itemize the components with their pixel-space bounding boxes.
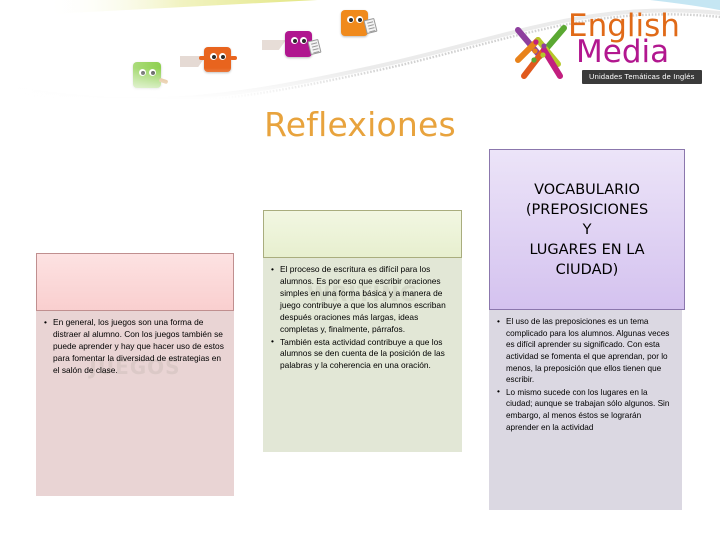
mascot-eye	[300, 37, 307, 44]
slide-page: English Media Unidades Temáticas de Ingl…	[0, 0, 720, 540]
heading-line: (PREPOSICIONES	[490, 200, 684, 220]
english-media-logo: English Media Unidades Temáticas de Ingl…	[514, 6, 706, 98]
games-column-body: JUEGOS En general, los juegos son una fo…	[36, 311, 234, 496]
list-item: Lo mismo sucede con los lugares en la ci…	[497, 387, 672, 434]
page-title: Reflexiones	[0, 105, 720, 144]
mascot-arm	[199, 56, 206, 60]
vocabulary-bullet-list: El uso de las preposiciones es un tema c…	[497, 316, 672, 433]
vocabulary-column: VOCABULARIO (PREPOSICIONES Y LUGARES EN …	[489, 149, 685, 510]
mascot-eye	[356, 16, 363, 23]
games-column-header	[36, 253, 234, 311]
english-media-logo-mark	[514, 20, 568, 84]
list-item: El proceso de escritura es difícil para …	[271, 264, 452, 336]
heading-line: LUGARES EN LA	[490, 240, 684, 260]
mascot-eye	[291, 37, 298, 44]
heading-line: CIUDAD)	[490, 260, 684, 280]
list-item: También esta actividad contribuye a que …	[271, 337, 452, 373]
games-bullet-list: En general, los juegos son una forma de …	[44, 317, 224, 377]
mascot-eye	[219, 53, 226, 60]
vocabulary-column-heading: VOCABULARIO (PREPOSICIONES Y LUGARES EN …	[490, 180, 684, 280]
vocabulary-column-header: VOCABULARIO (PREPOSICIONES Y LUGARES EN …	[489, 149, 685, 310]
writing-column-body: WRITING El proceso de escritura es difíc…	[263, 258, 462, 452]
heading-line: VOCABULARIO	[490, 180, 684, 200]
mascot-arm	[230, 56, 237, 60]
mascot-eye	[210, 53, 217, 60]
vocabulary-column-body: El uso de las preposiciones es un tema c…	[489, 310, 682, 510]
list-item: El uso de las preposiciones es un tema c…	[497, 316, 672, 386]
heading-line: Y	[490, 220, 684, 240]
writing-column-header	[263, 210, 462, 258]
logo-word-media: Media	[576, 34, 669, 70]
writing-bullet-list: El proceso de escritura es difícil para …	[271, 264, 452, 372]
writing-column: WRITING El proceso de escritura es difíc…	[263, 210, 462, 452]
list-item: En general, los juegos son una forma de …	[44, 317, 224, 377]
logo-tagline: Unidades Temáticas de Inglés	[582, 70, 702, 84]
mascot-eye	[347, 16, 354, 23]
games-column: JUEGOS En general, los juegos son una fo…	[36, 253, 234, 496]
